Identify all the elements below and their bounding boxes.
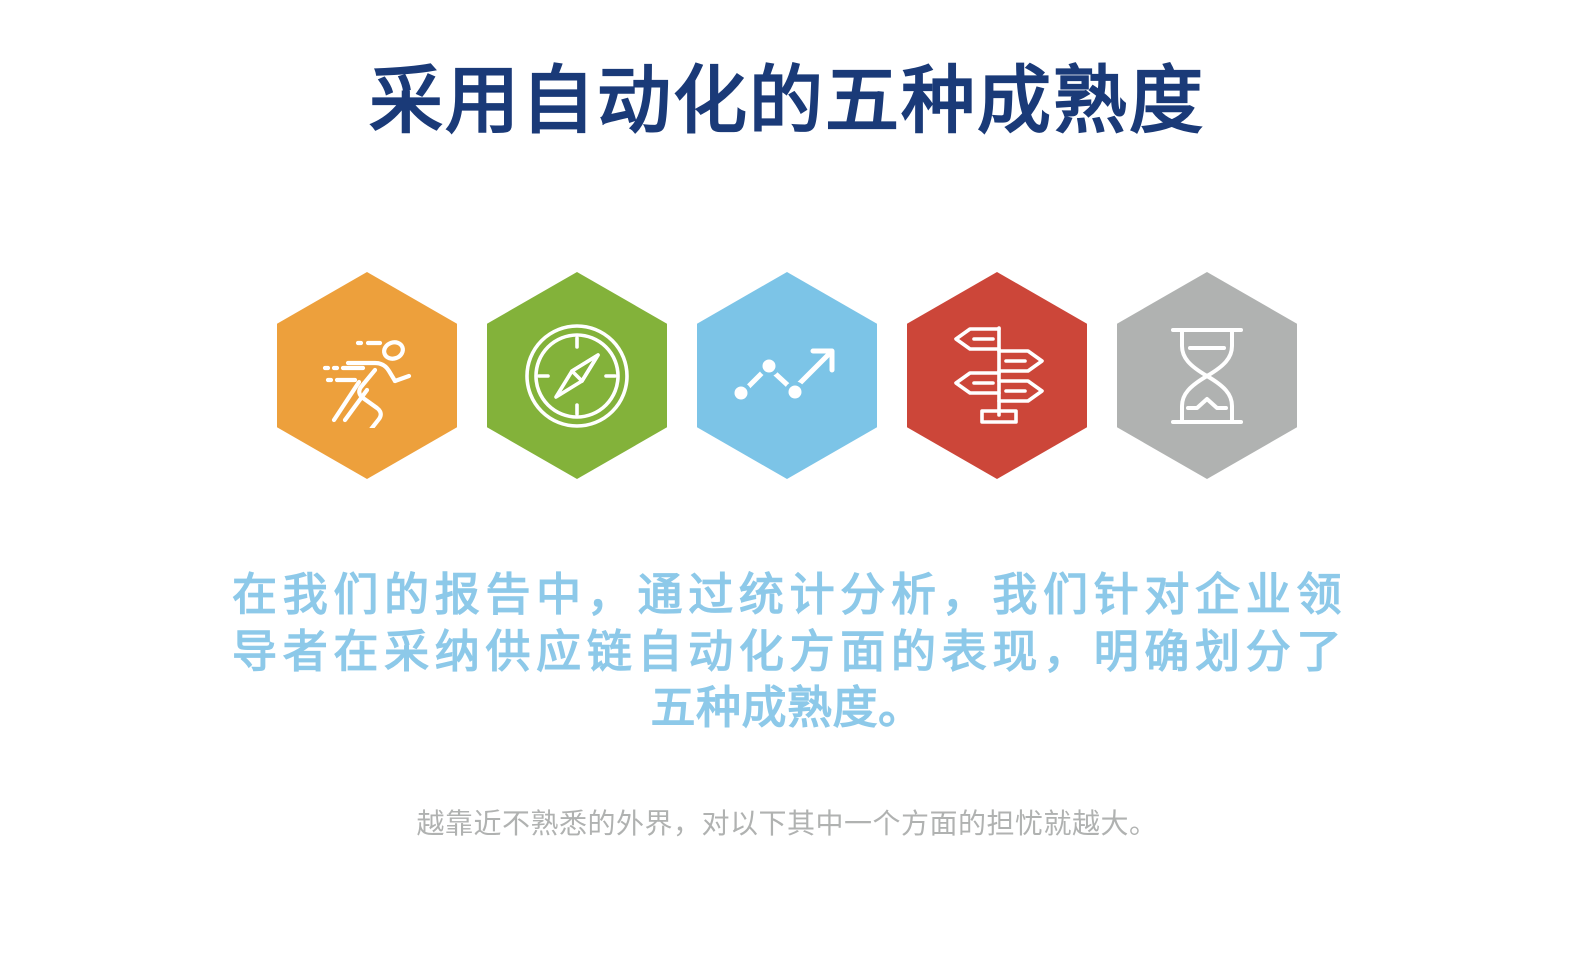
- hexagon-tile-3: [697, 272, 877, 479]
- hourglass-icon: [1165, 324, 1249, 428]
- signpost-icon: [946, 323, 1048, 429]
- hexagon-tile-4: [907, 272, 1087, 479]
- hexagon-tile-2: [487, 272, 667, 479]
- body-paragraph: 在我们的报告中，通过统计分析，我们针对企业领 导者在采纳供应链自动化方面的表现，…: [232, 567, 1342, 737]
- compass-icon: [524, 323, 630, 429]
- body-line-3: 五种成熟度。: [232, 680, 1342, 737]
- slide-canvas: 采用自动化的五种成熟度: [0, 0, 1574, 962]
- hexagon-tile-5: [1117, 272, 1297, 479]
- page-title: 采用自动化的五种成熟度: [0, 58, 1574, 143]
- body-line-2: 导者在采纳供应链自动化方面的表现，明确划分了: [232, 624, 1342, 681]
- hexagon-tile-1: [277, 272, 457, 479]
- body-line-1: 在我们的报告中，通过统计分析，我们针对企业领: [232, 567, 1342, 624]
- footnote-text: 越靠近不熟悉的外界，对以下其中一个方面的担忧就越大。: [0, 802, 1574, 842]
- trend-line-up-icon: [727, 338, 847, 414]
- running-person-icon: [315, 324, 419, 428]
- maturity-icon-row: [0, 272, 1574, 479]
